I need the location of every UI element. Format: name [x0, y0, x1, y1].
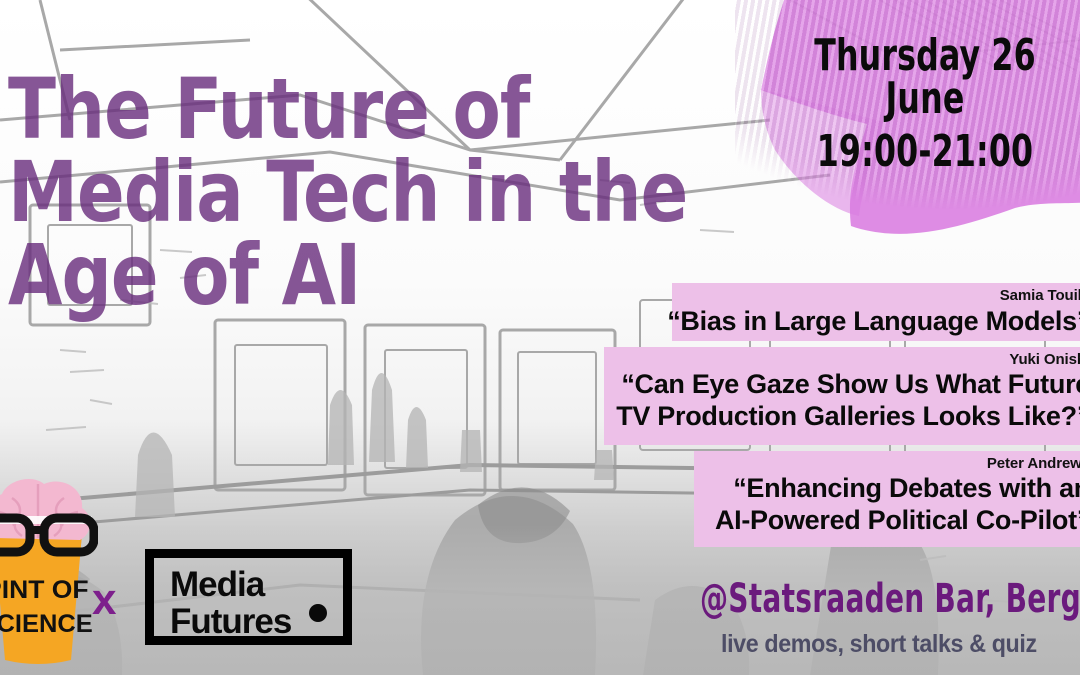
pint-of-science-logo: PINT OF SCIENCE — [0, 472, 98, 672]
event-time: 19:00-21:00 — [793, 130, 1057, 173]
pint-of-science-line-2: SCIENCE — [0, 610, 93, 638]
talk-band-1: Samia Touile “Bias in Large Language Mod… — [672, 283, 1080, 341]
page-title: The Future of Media Tech in the Age of A… — [8, 68, 788, 317]
talk-3-title-line-2: AI-Powered Political Co-Pilot” — [715, 505, 1080, 537]
pint-glass-icon: PINT OF SCIENCE — [0, 472, 98, 672]
title-line-1: The Future of — [8, 68, 733, 151]
talk-2-speaker: Yuki Onishi — [1009, 351, 1080, 368]
talk-band-2: Yuki Onishi “Can Eye Gaze Show Us What F… — [604, 347, 1080, 445]
talk-1-speaker: Samia Touile — [1000, 287, 1080, 304]
venue-text: @Statsraaden Bar, Bergen — [700, 576, 1080, 622]
talk-2-title: “Can Eye Gaze Show Us What Future TV Pro… — [616, 369, 1080, 433]
title-line-3: Age of AI — [8, 234, 733, 317]
talk-1-title-line-1: “Bias in Large Language Models” — [667, 306, 1080, 338]
logo-separator: x — [92, 575, 116, 625]
media-futures-line-2: Futures — [170, 604, 291, 639]
event-date-block: Thursday 26 June 19:00-21:00 — [760, 34, 1080, 173]
talk-2-title-line-2: TV Production Galleries Looks Like?” — [616, 401, 1080, 433]
media-futures-logo: Media Futures — [145, 549, 352, 645]
talk-3-title-line-1: “Enhancing Debates with an — [715, 473, 1080, 505]
tagline-label: live demos, short talks & quiz — [721, 630, 1037, 659]
tagline-text: live demos, short talks & quiz — [690, 630, 1080, 659]
media-futures-line-1: Media — [170, 567, 264, 602]
title-line-2: Media Tech in the — [8, 151, 733, 234]
talk-3-title: “Enhancing Debates with an AI-Powered Po… — [715, 473, 1080, 537]
pint-of-science-line-1: PINT OF — [0, 577, 89, 604]
talk-1-title: “Bias in Large Language Models” — [667, 306, 1080, 338]
event-day: Thursday 26 June — [793, 34, 1057, 120]
venue-label: @Statsraaden Bar, Bergen — [700, 576, 1080, 622]
talk-2-title-line-1: “Can Eye Gaze Show Us What Future — [616, 369, 1080, 401]
talk-3-speaker: Peter Andrews — [987, 455, 1080, 472]
media-futures-dot-icon — [309, 604, 327, 622]
event-poster: Thursday 26 June 19:00-21:00 The Future … — [0, 0, 1080, 675]
talk-band-3: Peter Andrews “Enhancing Debates with an… — [694, 451, 1080, 547]
